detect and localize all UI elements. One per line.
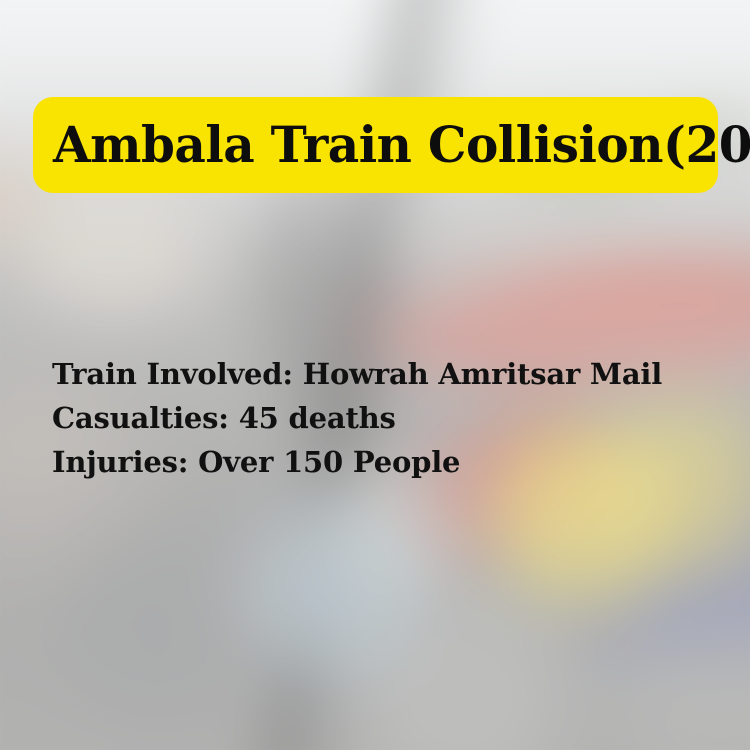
poster-canvas: Ambala Train Collision(2000) Train Invol…	[0, 0, 750, 750]
detail-label-casualties: Casualties:	[52, 401, 229, 435]
detail-label-injuries: Injuries:	[52, 445, 188, 479]
detail-label-train-involved: Train Involved:	[52, 357, 293, 391]
page-title: Ambala Train Collision(2000)	[53, 120, 750, 170]
title-banner: Ambala Train Collision(2000)	[33, 97, 718, 193]
detail-row-injuries: Injuries: Over 150 People	[52, 440, 712, 484]
detail-row-train-involved: Train Involved: Howrah Amritsar Mail	[52, 352, 712, 396]
detail-row-casualties: Casualties: 45 deaths	[52, 396, 712, 440]
detail-value-injuries: Over 150 People	[198, 445, 460, 479]
detail-list: Train Involved: Howrah Amritsar Mail Cas…	[52, 352, 712, 484]
detail-value-casualties: 45 deaths	[239, 401, 396, 435]
detail-value-train-involved: Howrah Amritsar Mail	[303, 357, 662, 391]
